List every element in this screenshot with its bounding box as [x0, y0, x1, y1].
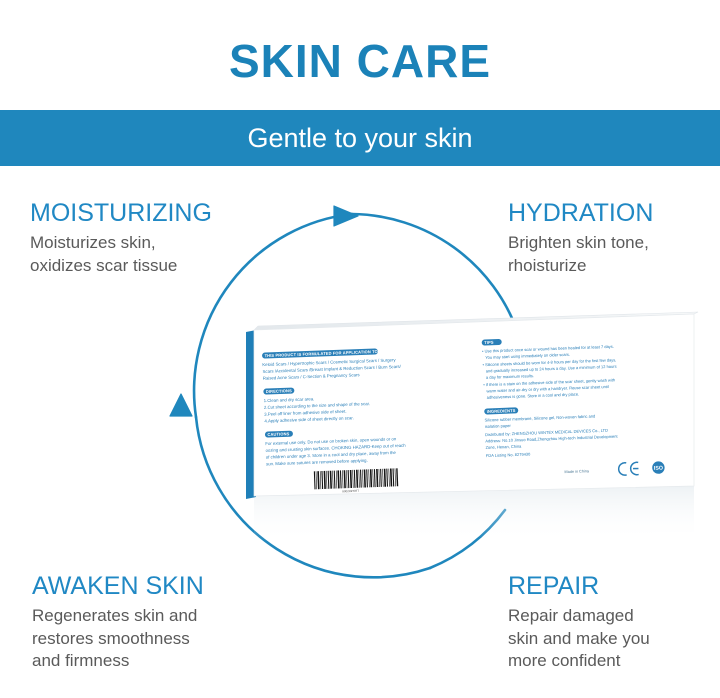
feature-repair: REPAIR Repair damaged skin and make you …	[508, 573, 650, 673]
heading-cautions: CAUTIONS	[267, 431, 289, 437]
feature-moisturizing: MOISTURIZING Moisturizes skin, oxidizes …	[30, 200, 212, 277]
iso-mark-label: ISO	[654, 465, 664, 471]
feature-repair-title: REPAIR	[508, 573, 650, 599]
feature-awaken-skin-title: AWAKEN SKIN	[32, 573, 204, 599]
heading-directions: DIRECTIONS	[266, 388, 292, 394]
ingredients-line-2: isolation paper	[485, 423, 512, 429]
feature-repair-line-1: Repair damaged	[508, 605, 650, 627]
feature-repair-line-2: skin and make you	[508, 628, 650, 650]
feature-awaken-skin-line-1: Regenerates skin and	[32, 605, 204, 627]
page-title: SKIN CARE	[0, 38, 720, 84]
left-arrowhead	[170, 394, 192, 416]
feature-hydration-line-1: Brighten skin tone,	[508, 232, 653, 254]
feature-repair-line-3: more confident	[508, 650, 650, 672]
feature-repair-body: Repair damaged skin and make you more co…	[508, 605, 650, 672]
feature-awaken-skin-line-3: and firmness	[32, 650, 204, 672]
barcode-number: X002X9T9T7	[342, 489, 360, 494]
page-subtitle: Gentle to your skin	[0, 110, 720, 166]
subtitle-banner: Gentle to your skin	[0, 110, 720, 166]
feature-hydration: HYDRATION Brighten skin tone, rhoisturiz…	[508, 200, 653, 277]
feature-moisturizing-body: Moisturizes skin, oxidizes scar tissue	[30, 232, 212, 277]
top-arrowhead	[334, 206, 358, 226]
feature-moisturizing-title: MOISTURIZING	[30, 200, 212, 226]
heading-tips: TIPS	[484, 340, 494, 345]
feature-awaken-skin-line-2: restores smoothness	[32, 628, 204, 650]
infographic-canvas: SKIN CARE Gentle to your skin	[0, 0, 720, 698]
feature-awaken-skin-body: Regenerates skin and restores smoothness…	[32, 605, 204, 672]
feature-hydration-title: HYDRATION	[508, 200, 653, 226]
feature-hydration-body: Brighten skin tone, rhoisturize	[508, 232, 653, 277]
heading-ingredients: INGREDIENTS	[487, 408, 516, 414]
feature-awaken-skin: AWAKEN SKIN Regenerates skin and restore…	[32, 573, 204, 673]
feature-moisturizing-line-2: oxidizes scar tissue	[30, 255, 212, 277]
product-package-image: THIS PRODUCT IS FORMULATED FOR APPLICATI…	[232, 300, 700, 552]
iso-mark: ISO	[652, 461, 666, 475]
feature-hydration-line-2: rhoisturize	[508, 255, 653, 277]
feature-moisturizing-line-1: Moisturizes skin,	[30, 232, 212, 254]
